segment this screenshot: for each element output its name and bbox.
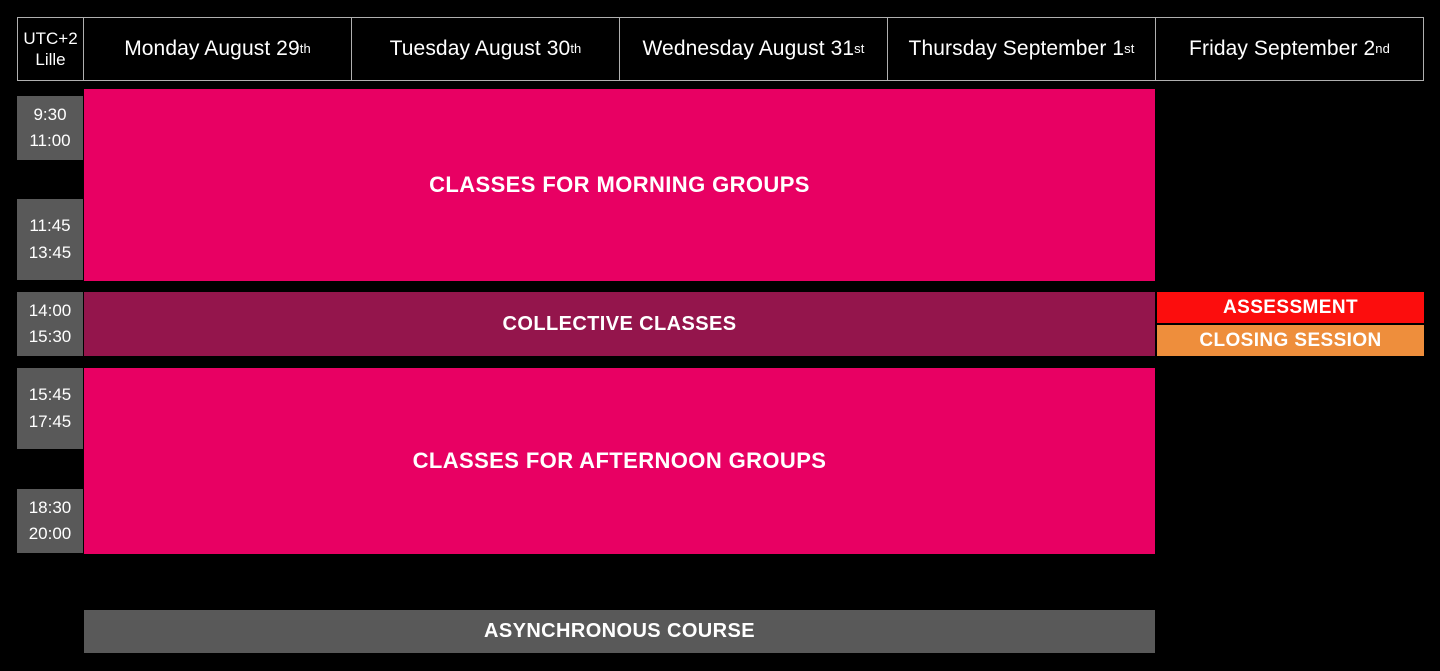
timetable: UTC+2 Lille Monday August 29th Tuesday A… — [0, 0, 1440, 671]
time-chip-slot-5: 18:30 20:00 — [17, 489, 83, 553]
header-cell-thursday: Thursday September 1st — [888, 18, 1156, 80]
time-end-slot-4: 17:45 — [29, 409, 72, 435]
session-block-asynchronous-course[interactable]: ASYNCHRONOUS COURSE — [84, 610, 1155, 653]
time-start-slot-3: 14:00 — [29, 298, 72, 324]
header-day-label-friday: Friday September 2 — [1189, 36, 1375, 62]
session-label-morning-classes: CLASSES FOR MORNING GROUPS — [421, 172, 818, 198]
header-cell-timezone: UTC+2 Lille — [18, 18, 84, 80]
session-block-assessment[interactable]: ASSESSMENT — [1157, 292, 1424, 323]
header-day-label-wednesday: Wednesday August 31 — [643, 36, 855, 62]
time-chip-slot-3: 14:00 15:30 — [17, 292, 83, 356]
session-label-assessment: ASSESSMENT — [1215, 297, 1366, 319]
header-cell-tuesday: Tuesday August 30th — [352, 18, 620, 80]
time-end-slot-3: 15:30 — [29, 324, 72, 350]
session-block-closing-session[interactable]: CLOSING SESSION — [1157, 325, 1424, 356]
time-start-slot-1: 9:30 — [33, 102, 66, 128]
header-cell-monday: Monday August 29th — [84, 18, 352, 80]
header-cell-wednesday: Wednesday August 31st — [620, 18, 888, 80]
timezone-city-label: Lille — [35, 49, 65, 70]
header-day-label-monday: Monday August 29 — [124, 36, 300, 62]
time-chip-slot-1: 9:30 11:00 — [17, 96, 83, 160]
session-label-collective-classes: COLLECTIVE CLASSES — [495, 313, 745, 336]
time-start-slot-4: 15:45 — [29, 382, 72, 408]
time-chip-slot-2: 11:45 13:45 — [17, 199, 83, 280]
timetable-header-row: UTC+2 Lille Monday August 29th Tuesday A… — [17, 17, 1424, 81]
time-chip-slot-4: 15:45 17:45 — [17, 368, 83, 449]
session-label-afternoon-classes: CLASSES FOR AFTERNOON GROUPS — [405, 448, 835, 474]
timezone-offset-label: UTC+2 — [23, 28, 77, 49]
session-block-collective-classes[interactable]: COLLECTIVE CLASSES — [84, 292, 1155, 356]
header-day-label-tuesday: Tuesday August 30 — [390, 36, 571, 62]
header-cell-friday: Friday September 2nd — [1156, 18, 1423, 80]
time-start-slot-5: 18:30 — [29, 495, 72, 521]
time-start-slot-2: 11:45 — [29, 213, 70, 239]
session-label-asynchronous-course: ASYNCHRONOUS COURSE — [476, 620, 763, 643]
session-block-morning-classes[interactable]: CLASSES FOR MORNING GROUPS — [84, 89, 1155, 281]
time-end-slot-2: 13:45 — [29, 240, 72, 266]
session-block-afternoon-classes[interactable]: CLASSES FOR AFTERNOON GROUPS — [84, 368, 1155, 554]
time-end-slot-1: 11:00 — [29, 128, 70, 154]
time-end-slot-5: 20:00 — [29, 521, 72, 547]
session-label-closing-session: CLOSING SESSION — [1191, 330, 1389, 352]
header-day-label-thursday: Thursday September 1 — [909, 36, 1125, 62]
